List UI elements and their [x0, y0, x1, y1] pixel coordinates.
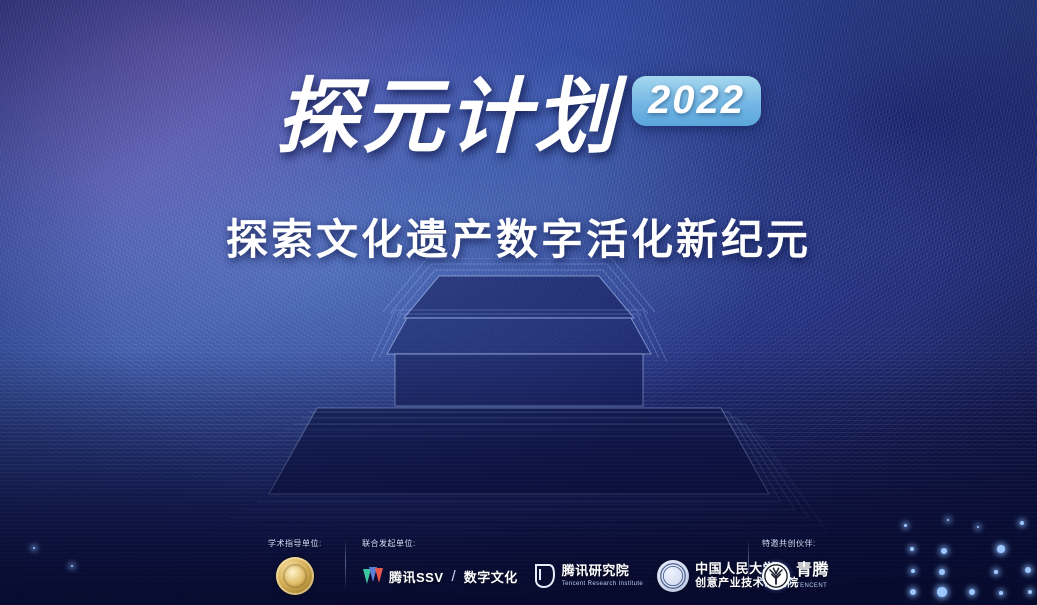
tencent-research-pen-icon — [532, 563, 556, 589]
footer-group-initiators: 联合发起单位: 腾讯SSV / 数字文化 — [362, 538, 799, 597]
title-block: 探元计划2022 — [0, 76, 1037, 160]
logo-separator: / — [452, 568, 456, 585]
footer-label-academic: 学术指导单位: — [268, 538, 322, 549]
page-title: 探元计划 — [276, 77, 620, 159]
logo-label-digital-culture: 数字文化 — [464, 567, 518, 586]
ruc-emblem-icon — [657, 560, 689, 592]
logo-label-tencent-research: 腾讯研究院 — [562, 564, 643, 579]
footer-logo-bar: 学术指导单位: 联合发起单位: — [0, 515, 1037, 605]
qingteng-tree-icon — [762, 562, 790, 590]
year-badge-label: 2022 — [648, 78, 745, 122]
footer-label-partner: 特邀共创伙伴: — [762, 538, 829, 549]
logo-tencent-ssv: 腾讯SSV / 数字文化 — [362, 555, 518, 597]
page-subtitle: 探索文化遗产数字活化新纪元 — [0, 206, 1037, 267]
footer-group-partner: 特邀共创伙伴: 青腾 TENCENT — [762, 538, 829, 597]
poster-canvas: 探元计划2022 探索文化遗产数字活化新纪元 学术指导单位: 联合发起单位: — [0, 0, 1037, 605]
footer-group-academic: 学术指导单位: — [268, 538, 322, 597]
logo-label-qingteng: 青腾 — [796, 562, 829, 580]
logo-label-tencent-ssv: 腾讯SSV — [389, 567, 444, 586]
year-badge: 2022 — [632, 76, 761, 126]
tencent-ssv-triangle-icon — [362, 566, 384, 586]
logo-label-qingteng-en: TENCENT — [796, 583, 829, 590]
gold-seal-icon — [276, 557, 314, 595]
footer-divider — [345, 539, 346, 591]
wireframe-gate-illustration — [209, 258, 829, 538]
logo-tencent-research: 腾讯研究院 Tencent Research Institute — [532, 555, 643, 597]
footer-label-initiators: 联合发起单位: — [362, 538, 799, 549]
gold-seal-inner — [283, 564, 307, 588]
logo-label-tencent-research-en: Tencent Research Institute — [562, 581, 643, 588]
